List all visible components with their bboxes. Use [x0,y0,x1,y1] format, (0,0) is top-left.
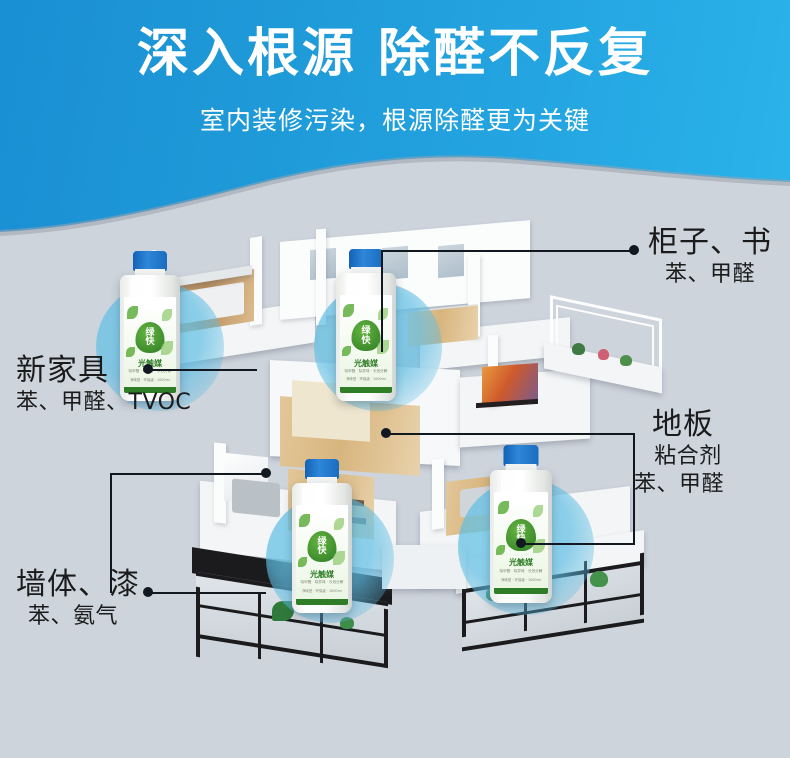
connector-dot-wall-lower [143,587,153,597]
connector-line-floor-horizontal [385,433,635,435]
callout-new-furniture-detail: 苯、甲醛、TVOC [16,389,191,417]
connector-dot-floor-lower [516,538,526,548]
callout-cabinet: 柜子、书 苯、甲醛 [648,225,772,289]
bottle-fine-text-1: 除甲醛 · 除异味 · 长效分解 [296,580,348,585]
callout-wall-paint-title: 墙体、漆 [16,567,140,603]
callout-floor-detail-2: 苯、甲醛 [634,471,724,499]
connector-line-cabinet-horizontal [381,250,633,252]
bottle-fine-text-1: 除甲醛 · 除异味 · 长效分解 [494,569,547,574]
bottle-fine-text-1: 除甲醛 · 除异味 · 长效分解 [340,369,392,374]
callout-wall-paint-detail: 苯、氨气 [6,603,140,631]
page-title: 深入根源 除醛不反复 [0,22,790,86]
bottle-fine-text-2: 净味型 · 环保级 · 1000ml [296,588,348,593]
bottle-fine-text-2: 净味型 · 环保级 · 1000ml [494,577,547,582]
callout-new-furniture-title: 新家具 [16,353,191,389]
header-banner: 深入根源 除醛不反复 室内装修污染，根源除醛更为关键 [0,0,790,240]
callout-new-furniture: 新家具 苯、甲醛、TVOC [16,353,191,417]
connector-dot-floor-upper [381,428,391,438]
bottle-fine-text-2: 净味型 · 环保级 · 1000ml [340,376,392,381]
connector-line-wall-bottom [148,592,266,594]
bottle-sub-text: 光触媒 [340,358,392,369]
callout-floor-detail-1: 粘合剂 [652,443,724,471]
product-bottle: 绿快 光触媒 除甲醛 · 除异味 · 长效分解 净味型 · 环保级 · 1000… [292,459,352,613]
page-subtitle: 室内装修污染，根源除醛更为关键 [0,104,790,138]
product-bottle: 绿快 光触媒 除甲醛 · 除异味 · 长效分解 净味型 · 环保级 · 1000… [490,445,552,603]
product-bottle: 绿快 光触媒 除甲醛 · 除异味 · 长效分解 净味型 · 环保级 · 1000… [336,249,396,401]
bottle-sub-text: 光触媒 [296,569,348,580]
callout-wall-paint: 墙体、漆 苯、氨气 [16,567,140,631]
callout-cabinet-title: 柜子、书 [648,225,772,261]
connector-dot-cabinet [629,245,639,255]
bottle-sub-text: 光触媒 [494,557,547,568]
connector-line-wall-top [110,473,265,475]
bottle-emblem-text: 绿快 [307,538,336,557]
scene: 绿快 光触媒 除甲醛 · 除异味 · 长效分解 净味型 · 环保级 · 1000… [0,205,790,758]
bottle-emblem-text: 绿快 [351,327,380,346]
callout-cabinet-detail: 苯、甲醛 [648,261,772,289]
connector-dot-wall-upper [261,468,271,478]
bottle-emblem-text: 绿快 [135,329,164,348]
promo-page: 深入根源 除醛不反复 室内装修污染，根源除醛更为关键 [0,0,790,758]
callout-floor: 地板 粘合剂 苯、甲醛 [652,407,724,499]
connector-line-cabinet-vertical [381,250,383,352]
callout-floor-title: 地板 [652,407,724,443]
house-model-illustration [120,215,680,685]
connector-line-floor-lower [520,543,635,545]
